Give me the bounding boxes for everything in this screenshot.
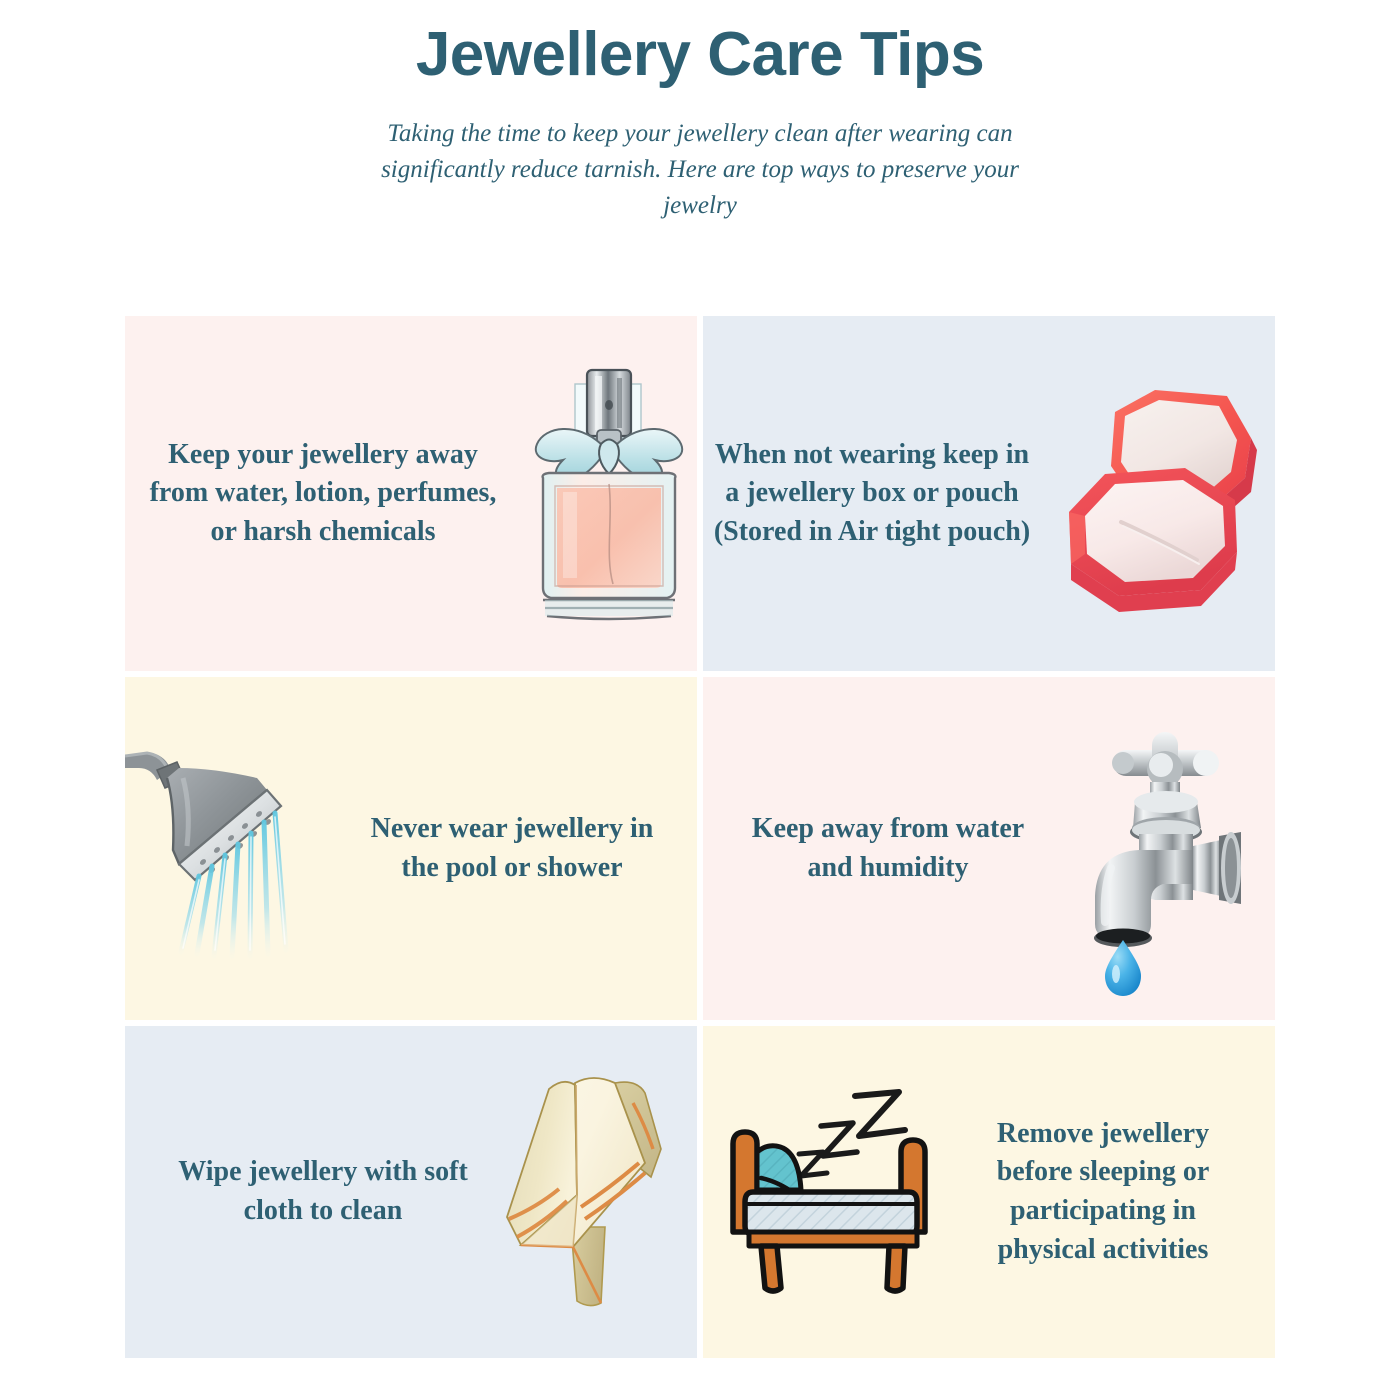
page-title: Jewellery Care Tips	[0, 22, 1400, 88]
tip-card-text: Remove jewellery before sleeping or part…	[953, 1115, 1253, 1270]
polishing-cloth-icon	[493, 1026, 697, 1358]
page-subtitle: Taking the time to keep your jewellery c…	[380, 116, 1020, 225]
tips-grid: Keep your jewellery away from water, lot…	[125, 316, 1275, 1358]
tip-card-text: Keep away from water and humidity	[729, 810, 1047, 887]
shower-head-icon	[125, 677, 347, 1020]
tip-card-text: Wipe jewellery with soft cloth to clean	[153, 1153, 493, 1230]
tip-card-sleep: Remove jewellery before sleeping or part…	[703, 1026, 1275, 1358]
tip-card-perfume: Keep your jewellery away from water, lot…	[125, 316, 697, 671]
tip-card-text: When not wearing keep in a jewellery box…	[703, 436, 1041, 552]
header: Jewellery Care Tips Taking the time to k…	[0, 0, 1400, 224]
tip-card-text: Keep your jewellery away from water, lot…	[137, 436, 509, 552]
ring-box-icon	[1059, 316, 1275, 671]
tip-card-humidity: Keep away from water and humidity	[703, 677, 1275, 1020]
infographic-page: Jewellery Care Tips Taking the time to k…	[0, 0, 1400, 1400]
tip-card-shower: Never wear jewellery in the pool or show…	[125, 677, 697, 1020]
tip-card-cloth: Wipe jewellery with soft cloth to clean	[125, 1026, 697, 1358]
perfume-bottle-icon	[509, 316, 697, 671]
bed-sleep-icon	[703, 1026, 953, 1358]
tip-card-text: Never wear jewellery in the pool or show…	[347, 810, 677, 887]
tip-card-jewellery-box: When not wearing keep in a jewellery box…	[703, 316, 1275, 671]
faucet-drip-icon	[1047, 677, 1275, 1020]
